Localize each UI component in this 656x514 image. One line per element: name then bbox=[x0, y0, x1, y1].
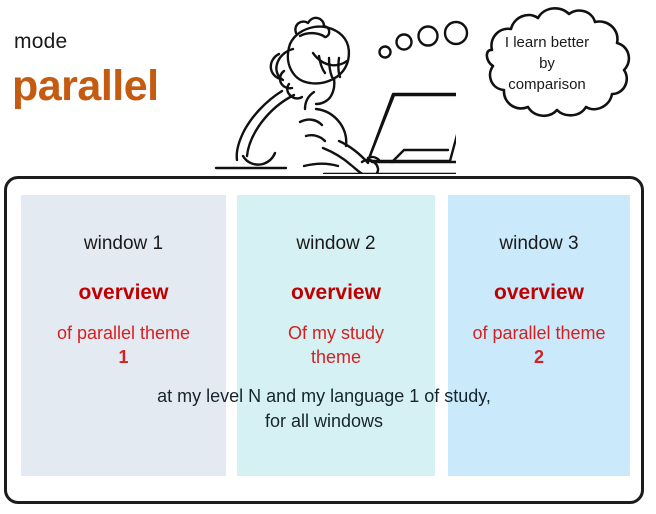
bubble-line-2: by bbox=[539, 55, 555, 72]
window-panel-2-number: theme bbox=[237, 345, 435, 369]
window-panel-1-number: 1 bbox=[21, 345, 226, 369]
window-panel-3-subtitle: of parallel theme 2 bbox=[448, 321, 630, 369]
window-panel-2[interactable]: window 2 overview Of my study theme bbox=[237, 195, 435, 476]
window-panel-2-subtitle-text: Of my study bbox=[288, 323, 384, 343]
bubble-line-1: I learn better bbox=[505, 34, 589, 51]
window-panel-3[interactable]: window 3 overview of parallel theme 2 bbox=[448, 195, 630, 476]
thought-bubble-text: I learn better by comparison bbox=[472, 32, 622, 95]
window-panel-1-subtitle-text: of parallel theme bbox=[57, 323, 190, 343]
window-panel-2-title: window 2 bbox=[237, 233, 435, 255]
header-area: mode parallel bbox=[0, 0, 656, 172]
window-panel-3-title: window 3 bbox=[448, 233, 630, 255]
window-panel-2-subtitle: Of my study theme bbox=[237, 321, 435, 369]
bubble-line-3: comparison bbox=[508, 76, 586, 93]
window-panel-1-subtitle: of parallel theme 1 bbox=[21, 321, 226, 369]
window-panel-3-heading: overview bbox=[448, 281, 630, 305]
window-panel-1-title: window 1 bbox=[21, 233, 226, 255]
windows-container: window 1 overview of parallel theme 1 wi… bbox=[4, 176, 644, 504]
window-panel-2-heading: overview bbox=[237, 281, 435, 305]
mode-label: mode bbox=[14, 30, 67, 54]
window-panel-1[interactable]: window 1 overview of parallel theme 1 bbox=[21, 195, 226, 476]
mode-value: parallel bbox=[12, 62, 159, 111]
window-panel-3-number: 2 bbox=[448, 345, 630, 369]
window-panel-1-heading: overview bbox=[21, 281, 226, 305]
window-panel-3-subtitle-text: of parallel theme bbox=[472, 323, 605, 343]
